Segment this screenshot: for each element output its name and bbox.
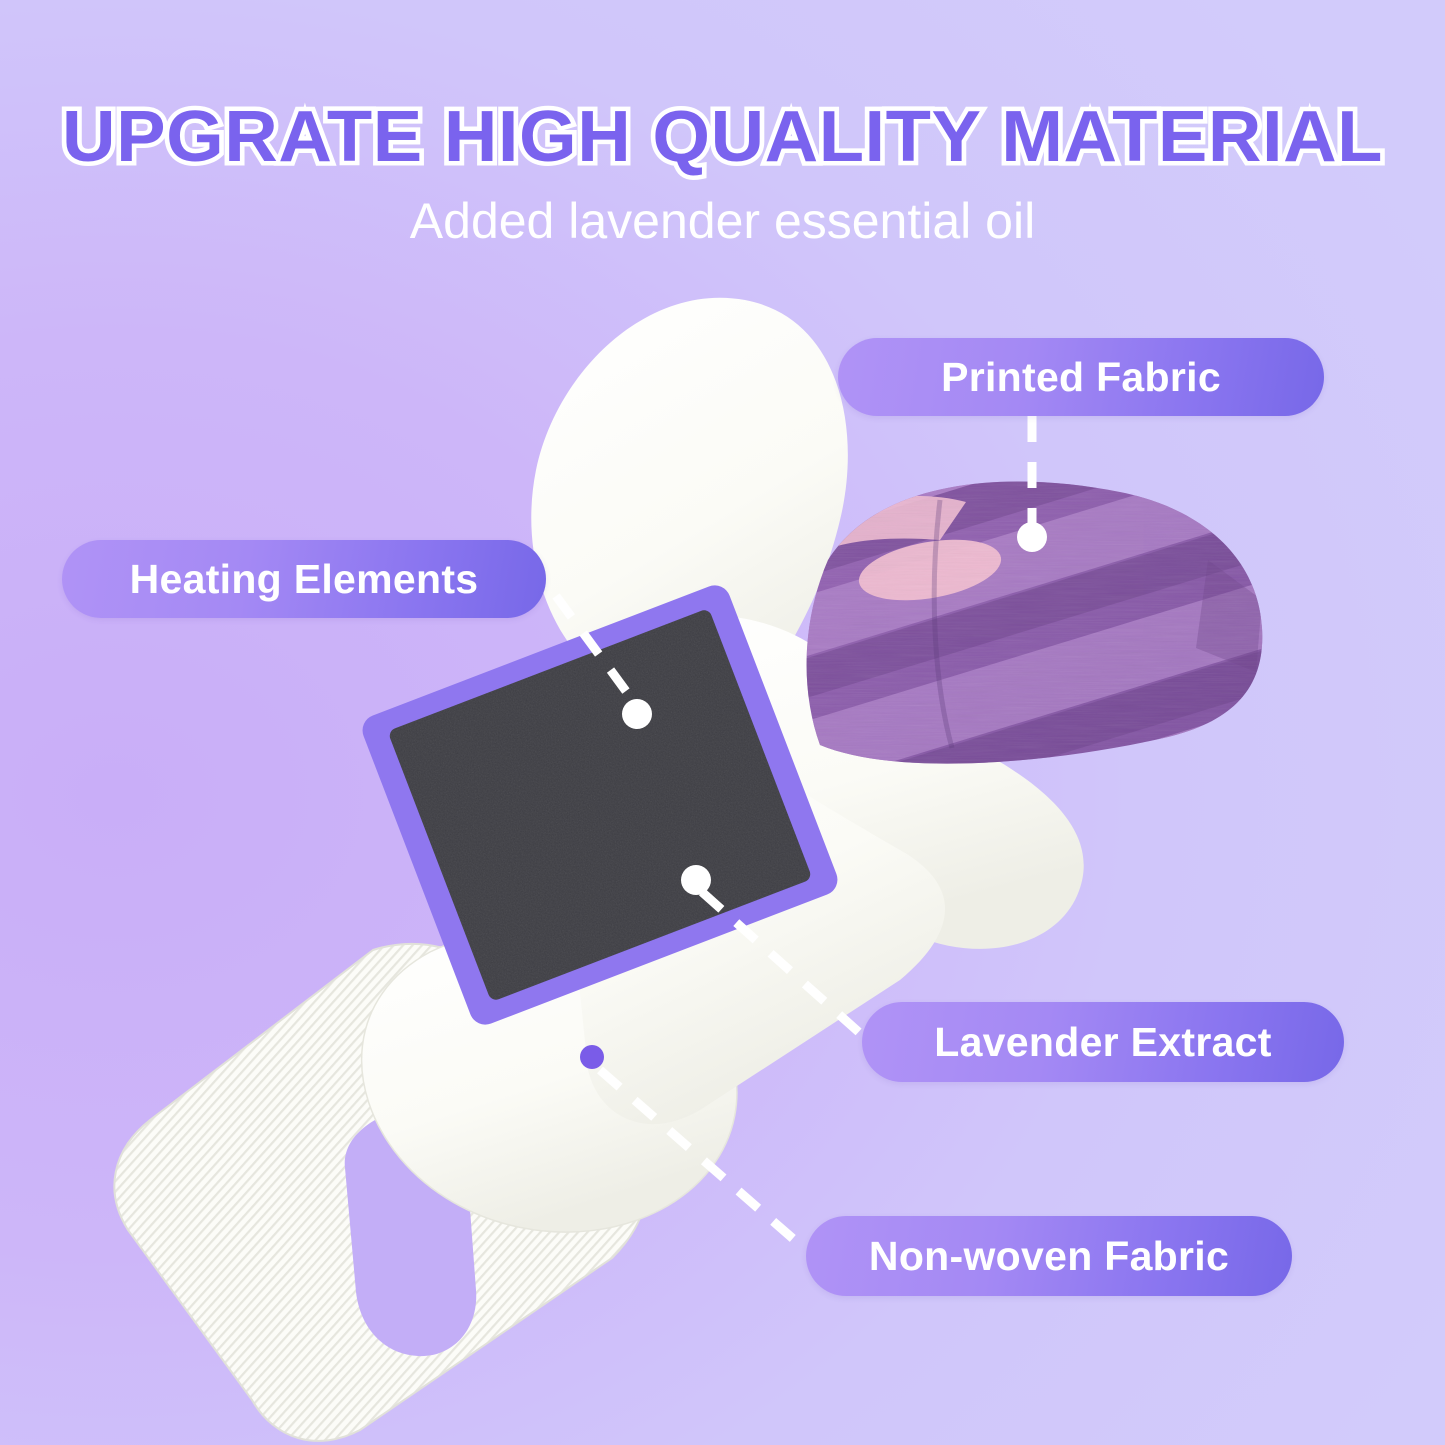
callout-label: Lavender Extract <box>934 1019 1272 1066</box>
connector-lavender-extract <box>681 865 862 1035</box>
callout-non-woven-fabric[interactable]: Non-woven Fabric <box>806 1216 1292 1296</box>
connector-heating-elements <box>556 596 652 729</box>
connector-printed-fabric <box>1017 416 1047 552</box>
callout-heating-elements[interactable]: Heating Elements <box>62 540 546 618</box>
infographic-canvas: UPGRATE HIGH QUALITY MATERIAL Added lave… <box>0 0 1445 1445</box>
callout-label: Heating Elements <box>130 556 479 603</box>
callout-label: Non-woven Fabric <box>869 1233 1229 1280</box>
callout-label: Printed Fabric <box>941 354 1221 401</box>
connector-non-woven-fabric <box>600 1070 806 1250</box>
callout-printed-fabric[interactable]: Printed Fabric <box>838 338 1324 416</box>
page-subtitle: Added lavender essential oil <box>0 192 1445 250</box>
callout-lavender-extract[interactable]: Lavender Extract <box>862 1002 1344 1082</box>
page-title: UPGRATE HIGH QUALITY MATERIAL <box>0 96 1445 178</box>
